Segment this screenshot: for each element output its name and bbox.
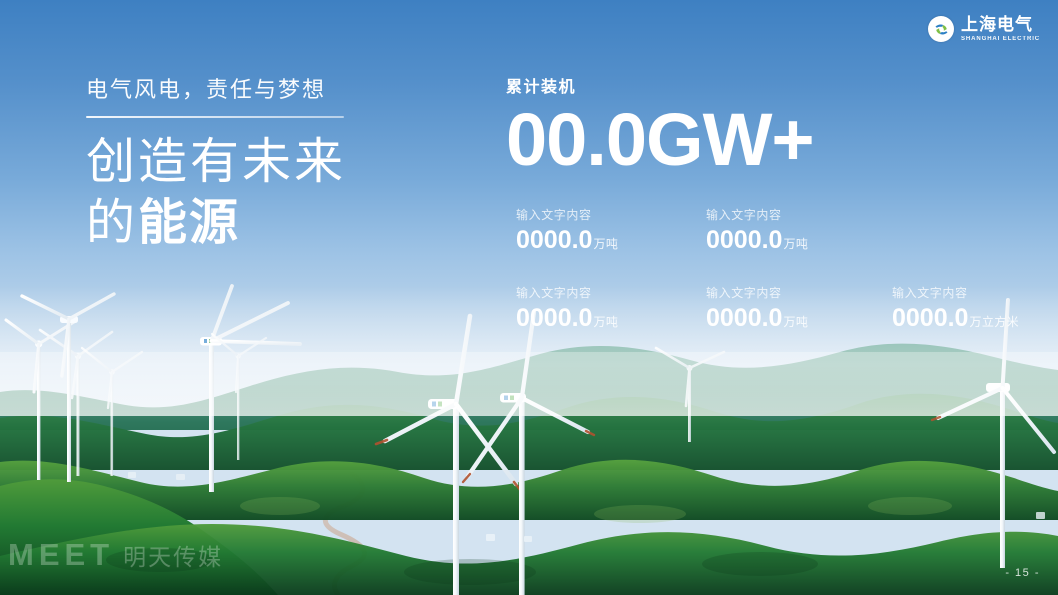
stat-number: 0000.0 xyxy=(516,226,592,254)
stat-number: 0000.0 xyxy=(516,304,592,332)
stat-unit: 万立方米 xyxy=(969,315,1019,329)
headline-line-2-thin: 的 xyxy=(86,196,138,250)
stat-item: 输入文字内容 0000.0万吨 xyxy=(706,209,808,253)
stat-number: 0000.0 xyxy=(706,226,782,254)
stats-panel: 累计装机 00.0GW+ 输入文字内容 0000.0万吨 输入文字内容 0000… xyxy=(506,80,1046,347)
stat-value: 0000.0万立方米 xyxy=(892,306,1019,331)
stat-unit: 万吨 xyxy=(783,237,808,251)
stat-item: 输入文字内容 0000.0万吨 xyxy=(516,209,618,253)
headline-main: 创造有未来 的能源 xyxy=(86,132,426,254)
stat-unit: 万吨 xyxy=(593,315,618,329)
stat-value: 0000.0万吨 xyxy=(516,228,618,253)
stat-title: 输入文字内容 xyxy=(516,209,618,221)
stat-value: 0000.0万吨 xyxy=(706,228,808,253)
stat-row-1: 输入文字内容 0000.0万吨 输入文字内容 0000.0万吨 xyxy=(506,209,1046,269)
stat-number: 0000.0 xyxy=(892,304,968,332)
page-number: - 15 - xyxy=(1005,567,1040,579)
headline-block: 电气风电，责任与梦想 创造有未来 的能源 xyxy=(86,78,426,254)
stat-title: 输入文字内容 xyxy=(516,287,618,299)
stat-rows: 输入文字内容 0000.0万吨 输入文字内容 0000.0万吨 输入文字内容 0… xyxy=(506,209,1046,347)
stat-item: 输入文字内容 0000.0万吨 xyxy=(516,287,618,331)
stat-unit: 万吨 xyxy=(593,237,618,251)
brand-logo-text: 上海电气 SHANGHAI ELECTRIC xyxy=(961,16,1040,42)
headline-line-1: 创造有未来 xyxy=(86,132,426,193)
stat-title: 输入文字内容 xyxy=(706,287,808,299)
stat-item: 输入文字内容 0000.0万立方米 xyxy=(892,287,1019,331)
stat-item: 输入文字内容 0000.0万吨 xyxy=(706,287,808,331)
stat-unit: 万吨 xyxy=(783,315,808,329)
swoosh-glyph xyxy=(933,21,950,38)
headline-divider xyxy=(86,116,344,118)
headline-line-2: 的能源 xyxy=(86,193,426,254)
brand-logo: 上海电气 SHANGHAI ELECTRIC xyxy=(928,16,1040,42)
stat-number: 0000.0 xyxy=(706,304,782,332)
stat-value: 0000.0万吨 xyxy=(706,306,808,331)
stat-row-2: 输入文字内容 0000.0万吨 输入文字内容 0000.0万吨 输入文字内容 0… xyxy=(506,287,1046,347)
stat-title: 输入文字内容 xyxy=(706,209,808,221)
kpi-label: 累计装机 xyxy=(506,80,1046,96)
stat-title: 输入文字内容 xyxy=(892,287,1019,299)
stat-value: 0000.0万吨 xyxy=(516,306,618,331)
tagline: 电气风电，责任与梦想 xyxy=(86,78,426,102)
slide-root: 上海电气 SHANGHAI ELECTRIC 电气风电，责任与梦想 创造有未来 … xyxy=(0,0,1058,595)
headline-line-2-bold: 能源 xyxy=(138,196,240,250)
kpi-value: 00.0GW+ xyxy=(506,104,1046,175)
brand-name-cn: 上海电气 xyxy=(961,16,1040,33)
shanghai-electric-swoosh-icon xyxy=(928,16,954,42)
brand-name-en: SHANGHAI ELECTRIC xyxy=(961,36,1040,42)
